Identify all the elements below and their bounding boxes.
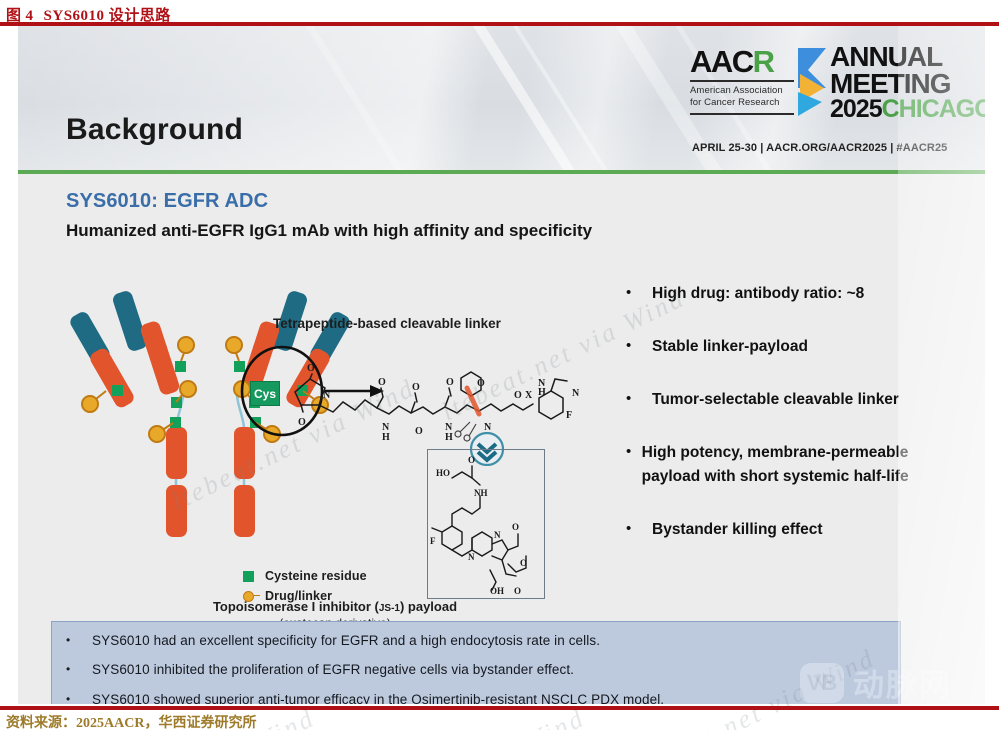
vb-logo-icon: VB <box>800 663 844 703</box>
brand-watermark: VB 动脉网 <box>800 660 952 705</box>
svg-text:O: O <box>514 586 521 596</box>
svg-text:O: O <box>446 377 454 388</box>
feature-text: High drug: antibody ratio: ~8 <box>652 282 864 306</box>
section-title: SYS6010: EGFR ADC <box>66 190 268 213</box>
aacr-rule-top <box>690 80 794 82</box>
svg-text:O: O <box>298 417 306 428</box>
bullet-icon: • <box>66 660 92 680</box>
svg-text:X: X <box>525 390 533 401</box>
aacr-rule-bottom <box>690 113 794 115</box>
svg-text:O: O <box>514 390 522 401</box>
svg-text:N: N <box>494 530 501 540</box>
section-subtitle: Humanized anti-EGFR IgG1 mAb with high a… <box>66 221 592 241</box>
payload-caption-main: Topoisomerase I inhibitor ( <box>213 599 379 614</box>
linker-chemical-structure: OO N ONH OO ONH ONH OX NH FN <box>255 352 585 452</box>
svg-text:H: H <box>445 432 453 443</box>
svg-text:F: F <box>430 536 436 546</box>
screenshot-root: 图4SYS6010 设计思路 Background AACR American … <box>0 0 999 730</box>
feature-text: Bystander killing effect <box>652 518 823 542</box>
brand-name: 动脉网 <box>853 660 952 705</box>
feature-text: Stable linker-payload <box>652 335 808 359</box>
legend-item-cysteine: Cysteine residue <box>243 569 367 583</box>
svg-text:O: O <box>512 522 519 532</box>
payload-inset-box: HOO NH F N N O O OHO <box>427 449 545 599</box>
svg-text:O: O <box>468 455 475 465</box>
bullet-icon: • <box>626 335 652 359</box>
payload-chemical-structure: HOO NH F N N O O OHO <box>428 450 544 598</box>
bullet-icon: • <box>626 518 652 542</box>
bullet-icon: • <box>626 282 652 306</box>
legend-label-cysteine: Cysteine residue <box>265 569 367 583</box>
svg-text:N: N <box>468 552 475 562</box>
summary-text: SYS6010 had an excellent specificity for… <box>92 631 600 651</box>
cys-tag-label: Cys <box>254 387 276 401</box>
svg-text:N: N <box>323 390 331 401</box>
presentation-slide: Background AACR American Association for… <box>18 26 985 704</box>
svg-text:O: O <box>520 558 527 568</box>
slide-title: Background <box>66 113 243 147</box>
feature-text: Tumor-selectable cleavable linker <box>652 388 899 412</box>
aacr-acronym-green: R <box>753 44 774 79</box>
svg-text:O: O <box>378 377 386 388</box>
aacr-org-line1: American Association <box>690 85 796 97</box>
aacr-chevron-mark-icon <box>798 48 826 116</box>
aacr-org-line2: for Cancer Research <box>690 97 796 109</box>
svg-text:H: H <box>382 432 390 443</box>
svg-text:F: F <box>566 410 572 421</box>
payload-caption-tail: ) payload <box>400 599 457 614</box>
svg-text:O: O <box>307 363 315 374</box>
slide-right-glare <box>898 26 985 704</box>
summary-text: SYS6010 showed superior anti-tumor effic… <box>92 690 664 705</box>
source-line: 资料来源：2025AACR，华西证券研究所 <box>6 712 256 730</box>
summary-item: • SYS6010 inhibited the proliferation of… <box>66 660 900 680</box>
cys-tag: Cys <box>250 381 280 406</box>
summary-box: • SYS6010 had an excellent specificity f… <box>51 621 901 704</box>
svg-text:O: O <box>477 378 485 389</box>
bullet-icon: • <box>66 631 92 651</box>
summary-text: SYS6010 inhibited the proliferation of E… <box>92 660 574 680</box>
bottom-divider <box>0 706 999 710</box>
green-square-icon <box>243 571 254 582</box>
svg-text:N: N <box>572 388 580 399</box>
linker-caption: Tetrapeptide-based cleavable linker <box>273 316 501 331</box>
bullet-icon: • <box>626 441 642 489</box>
svg-text:HO: HO <box>436 468 450 478</box>
bullet-icon: • <box>66 690 92 705</box>
payload-caption-code: JS-1 <box>379 603 400 614</box>
aacr-year: 2025 <box>830 95 882 123</box>
summary-item: • SYS6010 had an excellent specificity f… <box>66 631 900 651</box>
summary-item: • SYS6010 showed superior anti-tumor eff… <box>66 690 900 705</box>
bullet-icon: • <box>626 388 652 412</box>
aacr-wordmark: AACR American Association for Cancer Res… <box>690 46 796 115</box>
svg-text:O: O <box>415 426 423 437</box>
slide-body: SYS6010: EGFR ADC Humanized anti-EGFR Ig… <box>18 174 985 704</box>
svg-text:H: H <box>538 387 546 398</box>
aacr-acronym-black: AAC <box>690 44 753 79</box>
svg-text:NH: NH <box>474 488 488 498</box>
svg-text:O: O <box>412 382 420 393</box>
svg-text:OH: OH <box>490 586 504 596</box>
